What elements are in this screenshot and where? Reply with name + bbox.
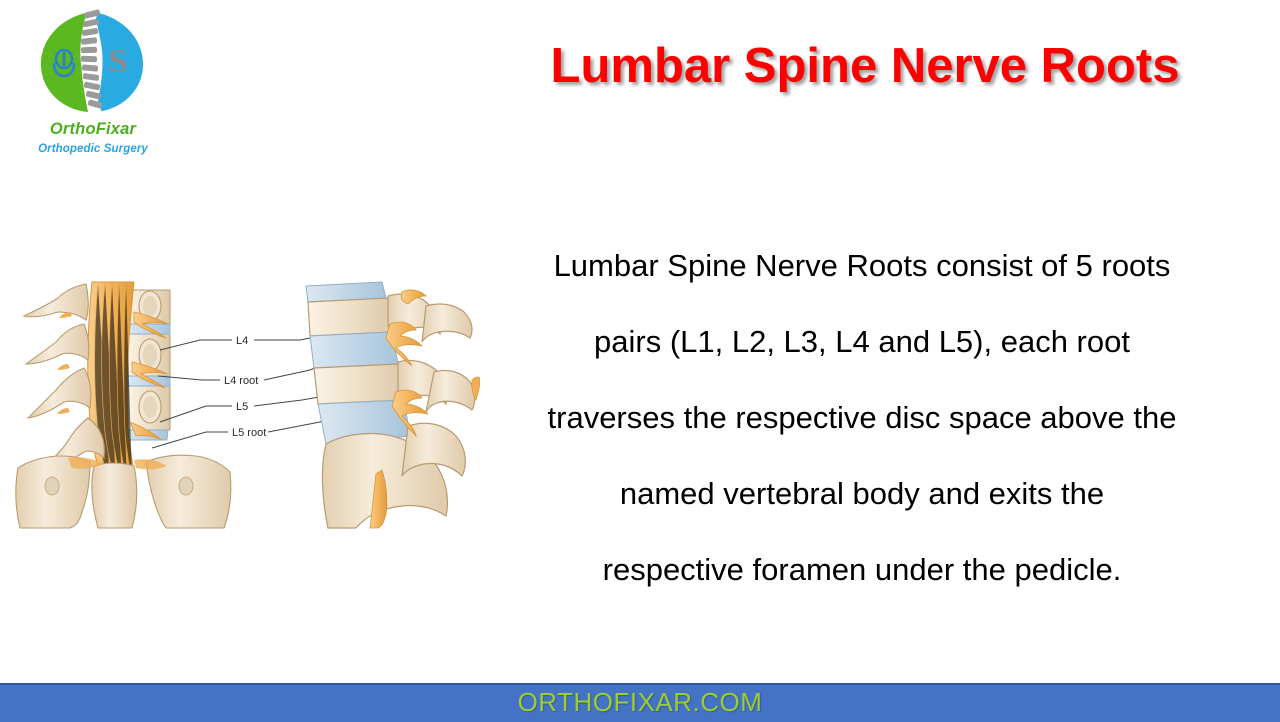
body-line: respective foramen under the pedicle.: [462, 532, 1262, 608]
spine-leaf-logo-icon: S: [32, 6, 150, 118]
logo-wordmark: OrthoFixar: [18, 120, 168, 139]
body-line: Lumbar Spine Nerve Roots consist of 5 ro…: [462, 228, 1262, 304]
body-line: named vertebral body and exits the: [462, 456, 1262, 532]
brand-logo[interactable]: S OrthoFixar Orthopedic Surgery: [18, 6, 168, 166]
logo-tagline: Orthopedic Surgery: [18, 143, 168, 155]
svg-text:S: S: [109, 43, 128, 80]
footer-website-text[interactable]: ORTHOFIXAR.COM: [0, 685, 1280, 722]
label-l4: L4: [236, 335, 248, 347]
body-paragraph: Lumbar Spine Nerve Roots consist of 5 ro…: [462, 228, 1262, 608]
page-title: Lumbar Spine Nerve Roots: [470, 38, 1260, 94]
footer-bar: ORTHOFIXAR.COM: [0, 683, 1280, 722]
posterior-view-group: [16, 282, 232, 528]
body-line: traverses the respective disc space abov…: [462, 380, 1262, 456]
body-line: pairs (L1, L2, L3, L4 and L5), each root: [462, 304, 1262, 380]
label-l5: L5: [236, 401, 248, 413]
label-l4-root: L4 root: [224, 375, 258, 387]
lumbar-spine-nerve-roots-illustration: L4 L4 root L5 L5 root: [10, 272, 480, 530]
lateral-view-group: [254, 282, 480, 528]
illustration-labels: L4 L4 root L5 L5 root: [224, 335, 266, 439]
label-l5-root: L5 root: [232, 427, 266, 439]
